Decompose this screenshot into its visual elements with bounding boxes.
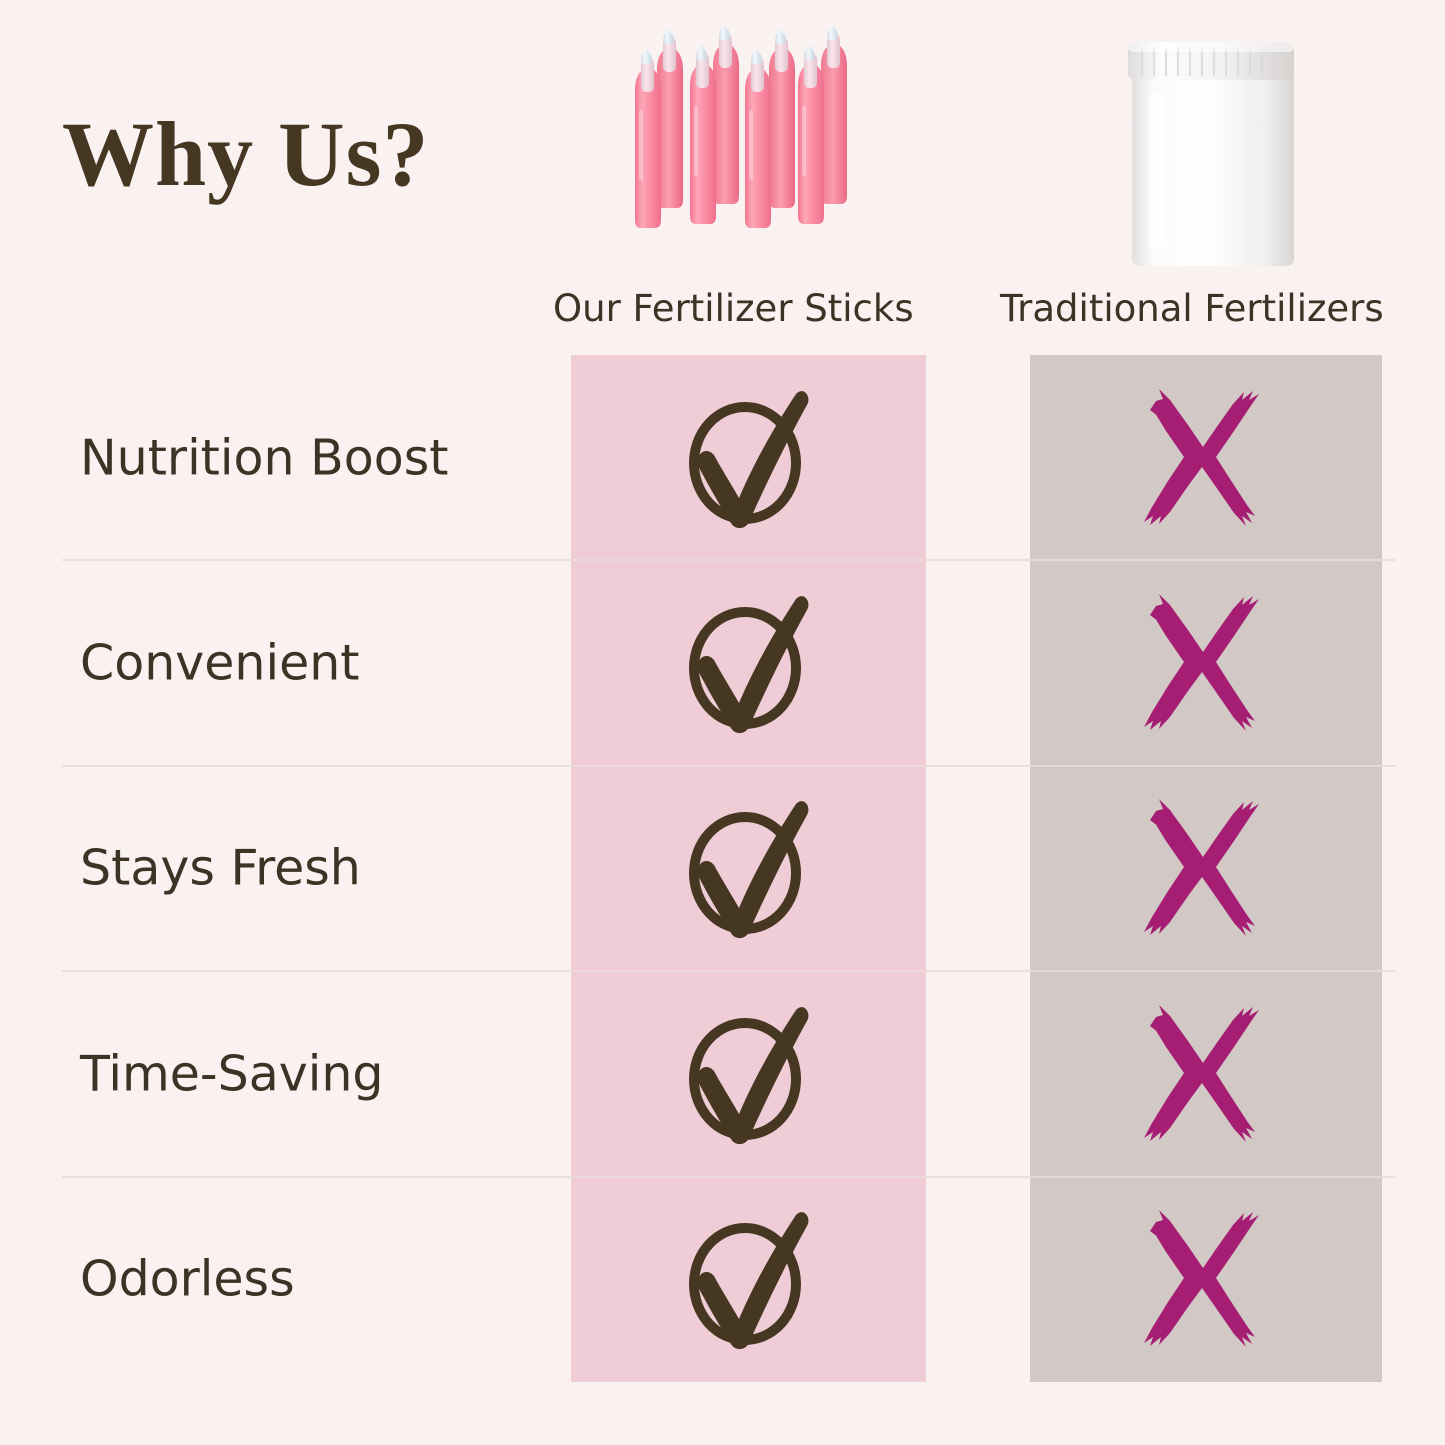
check-icon-ours-odorless	[673, 1204, 823, 1354]
feature-label-odorless: Odorless	[80, 1255, 295, 1304]
traditional-fertilizer-jar-image	[1118, 30, 1308, 280]
check-icon-ours-convenient	[673, 588, 823, 738]
cross-icon-theirs-stays-fresh	[1130, 793, 1280, 943]
cross-icon-theirs-odorless	[1130, 1204, 1280, 1354]
feature-row-convenient: Convenient	[0, 560, 1445, 765]
cross-icon-theirs-time-saving	[1130, 999, 1280, 1149]
feature-row-odorless: Odorless	[0, 1177, 1445, 1382]
cross-icon-theirs-convenient	[1130, 588, 1280, 738]
feature-label-time-saving: Time-Saving	[80, 1049, 384, 1098]
check-icon-ours-time-saving	[673, 999, 823, 1149]
check-icon-ours-stays-fresh	[673, 793, 823, 943]
feature-row-time-saving: Time-Saving	[0, 971, 1445, 1176]
feature-label-convenient: Convenient	[80, 639, 359, 688]
page-title: Why Us?	[62, 108, 429, 200]
comparison-infographic: Why Us?	[0, 0, 1445, 1445]
feature-row-nutrition-boost: Nutrition Boost	[0, 355, 1445, 560]
cross-icon-theirs-nutrition-boost	[1130, 383, 1280, 533]
feature-label-nutrition-boost: Nutrition Boost	[80, 433, 448, 482]
fertilizer-sticks-image	[630, 26, 870, 281]
check-icon-ours-nutrition-boost	[673, 383, 823, 533]
column-header-ours: Our Fertilizer Sticks	[553, 290, 914, 327]
feature-row-stays-fresh: Stays Fresh	[0, 766, 1445, 971]
column-header-theirs: Traditional Fertilizers	[1000, 290, 1384, 327]
feature-label-stays-fresh: Stays Fresh	[80, 844, 361, 893]
